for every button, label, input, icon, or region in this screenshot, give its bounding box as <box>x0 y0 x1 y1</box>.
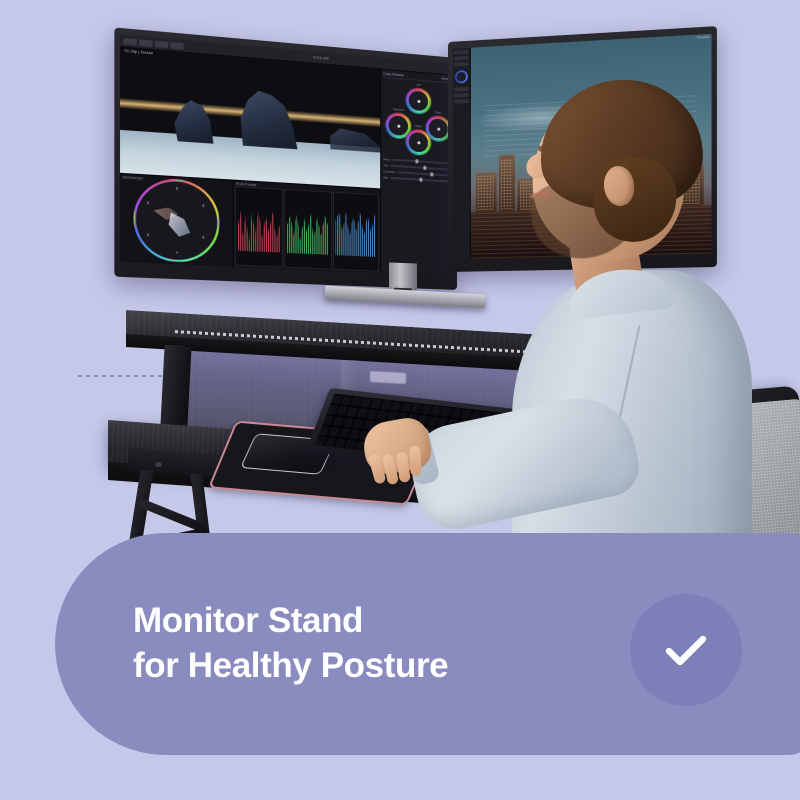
waveform-blue <box>333 191 379 271</box>
viewer-sidebar <box>453 48 471 259</box>
app-main-column: 01 Clip | Source Vectorscope <box>120 47 380 272</box>
vectorscope-target <box>175 251 178 254</box>
vectorscope-panel[interactable]: Vectorscope <box>120 174 234 267</box>
vectorscope-target <box>202 236 205 239</box>
slider-label-temp: Temp <box>383 157 390 162</box>
color-grading-app: COLOR 01 Clip | Source <box>120 34 452 275</box>
check-icon <box>655 619 717 681</box>
vectorscope-label: Vectorscope <box>122 175 143 181</box>
sidebar-chip[interactable] <box>454 99 469 104</box>
product-image-canvas: COLOR 01 Clip | Source <box>0 0 800 800</box>
slider-label-tint: Tint <box>383 163 388 167</box>
vectorscope-target <box>202 204 205 207</box>
rgb-parade-panel[interactable]: RGB Parade <box>234 180 380 272</box>
sidebar-chip[interactable] <box>454 87 469 92</box>
waveform-trace <box>238 201 281 253</box>
toolbar-button-fairlight[interactable] <box>170 41 183 49</box>
left-monitor-screen: COLOR 01 Clip | Source <box>120 34 452 275</box>
vectorscope-trace <box>169 212 191 237</box>
waveform-trace <box>335 206 376 257</box>
person <box>476 74 800 544</box>
color-panel-title: Color Wheels <box>383 72 404 78</box>
vectorscope-target <box>175 187 178 190</box>
slider-knob[interactable] <box>419 178 422 182</box>
slider-track[interactable] <box>390 177 450 183</box>
height-guide-line <box>78 375 174 377</box>
desk-drawer-knob[interactable] <box>155 462 162 467</box>
slider-label-contrast: Contrast <box>383 169 394 174</box>
app-body: 01 Clip | Source Vectorscope <box>120 47 452 276</box>
sidebar-color-wheel[interactable] <box>455 70 468 84</box>
toolbar-button-edit[interactable] <box>123 37 137 45</box>
check-badge <box>630 594 742 706</box>
slider-knob[interactable] <box>416 159 419 163</box>
slider-label-sat: Sat <box>383 175 388 179</box>
waveform-red <box>235 186 283 268</box>
sidebar-chip[interactable] <box>454 93 469 98</box>
viewer-canvas[interactable]: 01 Clip | Source <box>120 47 380 188</box>
viewer-label: 01 Clip | Source <box>122 49 155 56</box>
riser-indicator-panel <box>370 371 406 384</box>
vectorscope-target <box>147 201 150 204</box>
sea-stack-rock <box>330 128 380 153</box>
sidebar-chip[interactable] <box>454 56 469 61</box>
preview-label: Preview <box>697 35 709 40</box>
vectorscope-graticule <box>134 177 220 264</box>
left-monitor: COLOR 01 Clip | Source <box>114 27 457 290</box>
slider-knob[interactable] <box>430 172 433 176</box>
color-wheels-panel: Color Wheels Reset Lift Gamma Gain Off <box>380 69 452 275</box>
slider-knob[interactable] <box>423 166 426 170</box>
sidebar-chip[interactable] <box>454 62 469 67</box>
color-wheels-group: Lift Gamma Gain Offset <box>383 80 450 160</box>
toolbar-button-color[interactable] <box>155 40 168 48</box>
rgb-parade-row <box>235 186 379 272</box>
toolbar-button-fusion[interactable] <box>139 39 152 47</box>
finger <box>409 446 422 477</box>
vectorscope-target <box>147 234 150 237</box>
banner-headline: Monitor Stand for Healthy Posture <box>133 599 448 689</box>
scopes-area: Vectorscope <box>120 173 380 273</box>
waveform-trace <box>287 204 329 255</box>
sidebar-chip[interactable] <box>454 50 469 55</box>
waveform-green <box>284 189 331 270</box>
